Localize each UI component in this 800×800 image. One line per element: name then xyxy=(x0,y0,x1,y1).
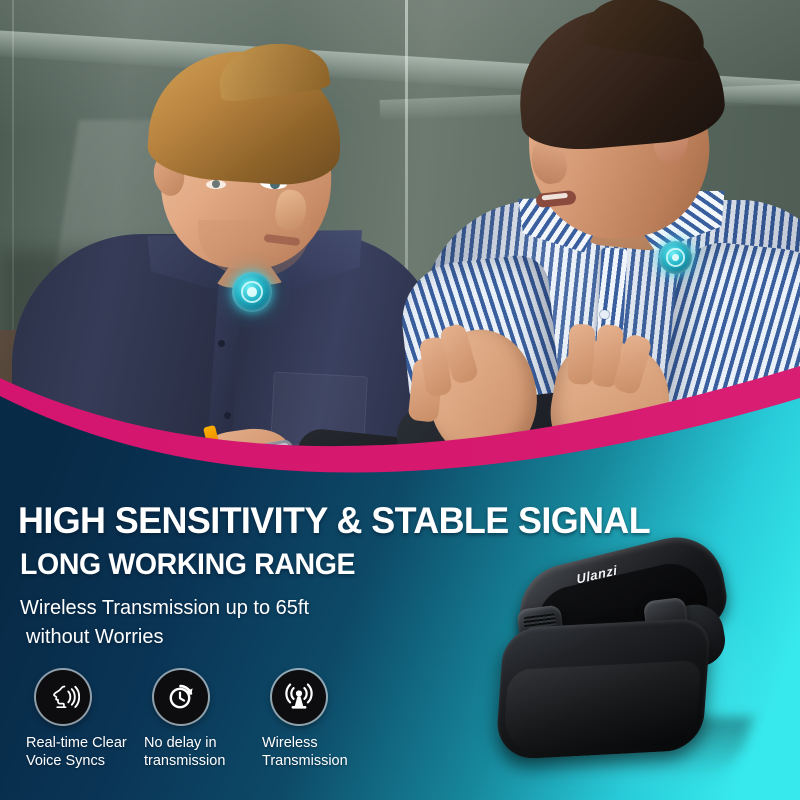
clock-rotate-glyph xyxy=(164,680,198,714)
feature-label: Wireless Transmission xyxy=(262,734,380,770)
shirt-button xyxy=(224,412,231,419)
body-copy-line-1: Wireless Transmission up to 65ft xyxy=(20,597,309,619)
product-marketing-poster: HIGH SENSITIVITY & STABLE SIGNAL LONG WO… xyxy=(0,0,800,800)
broadcast-antenna-icon xyxy=(272,670,326,724)
body-copy-line-2: without Worries xyxy=(26,623,309,652)
feature-label-line-1: No delay in xyxy=(144,734,262,752)
feature-list: Real-time Clear Voice Syncs No delay in xyxy=(26,670,406,770)
feature-item-no-delay-in-transmission: No delay in transmission xyxy=(144,670,262,770)
product-image: Ulanzi xyxy=(490,545,780,780)
shirt-button xyxy=(218,340,225,347)
clock-rotate-icon xyxy=(154,670,208,724)
shirt-button xyxy=(600,310,609,319)
feature-item-real-time-clear-voice-syncs: Real-time Clear Voice Syncs xyxy=(26,670,144,770)
feature-label-line-2: transmission xyxy=(144,752,262,770)
speaking-head-soundwave-glyph xyxy=(46,680,80,714)
feature-label-line-1: Wireless xyxy=(262,734,380,752)
feature-label-line-2: Voice Syncs xyxy=(26,752,144,770)
speaking-head-soundwave-icon xyxy=(36,670,90,724)
charging-case-front-face xyxy=(503,660,702,754)
feature-label-line-1: Real-time Clear xyxy=(26,734,144,752)
left-man xyxy=(58,44,388,470)
broadcast-antenna-glyph xyxy=(282,680,316,714)
hero-photo xyxy=(0,0,800,470)
body-copy: Wireless Transmission up to 65ft without… xyxy=(20,594,309,652)
feature-item-wireless-transmission: Wireless Transmission xyxy=(262,670,380,770)
feature-label: No delay in transmission xyxy=(144,734,262,770)
clip-on-mic-badge-left-man xyxy=(232,272,272,312)
left-man-eye-left xyxy=(206,180,226,189)
feature-label-line-2: Transmission xyxy=(262,752,380,770)
page-title: HIGH SENSITIVITY & STABLE SIGNAL xyxy=(18,500,650,542)
left-man-wristwatch xyxy=(252,439,297,470)
page-subtitle: LONG WORKING RANGE xyxy=(20,548,355,582)
clip-on-mic-badge-right-man xyxy=(659,241,692,274)
feature-label: Real-time Clear Voice Syncs xyxy=(26,734,144,770)
